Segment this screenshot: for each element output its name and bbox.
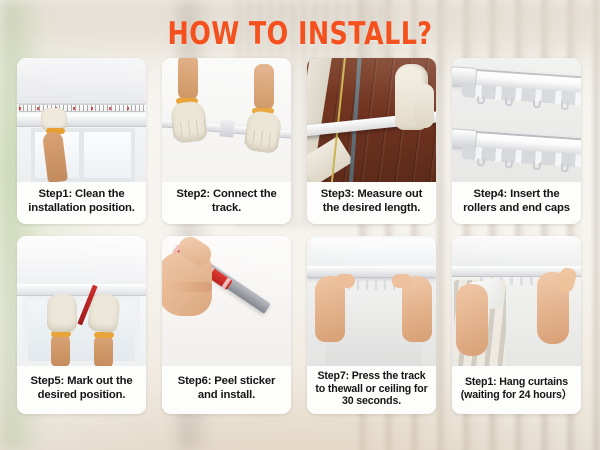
step-5-photo — [17, 236, 146, 366]
roller-hook-icon — [505, 160, 514, 169]
ceiling-surface — [311, 238, 435, 264]
window-glass — [23, 296, 140, 366]
glove-fingers — [172, 119, 207, 138]
tape-measure-icon — [19, 104, 145, 112]
thumb-right — [392, 274, 412, 288]
step-5-caption: Step5: Mark out the desired position. — [17, 366, 146, 414]
step-6-photo — [162, 236, 291, 366]
window-lintel — [17, 114, 146, 127]
roller-hook-icon — [533, 100, 542, 109]
glove-cuff-right — [94, 332, 114, 338]
step-3-caption: Step3: Measure out the desired length. — [307, 182, 436, 224]
work-glove-right-icon — [243, 110, 282, 154]
step-2-caption: Step2: Connect the track. — [162, 182, 291, 224]
roller-hook-icon — [561, 102, 570, 111]
thumb-left — [335, 274, 355, 288]
forearm-right — [254, 64, 274, 110]
page-title: HOW TO INSTALL? — [54, 17, 546, 51]
track-assembly-top — [452, 67, 581, 107]
roller-hook-icon — [533, 162, 542, 171]
step-card-6[interactable]: Step6: Peel sticker and install. — [162, 236, 291, 414]
step-3-photo — [307, 58, 436, 182]
step-8-photo — [452, 236, 581, 366]
step-7-caption: Step7: Press the track to thewall or cei… — [307, 366, 436, 414]
track-connector — [219, 119, 234, 137]
tape-red-marks — [19, 107, 145, 110]
step-card-2[interactable]: Step2: Connect the track. — [162, 58, 291, 224]
work-glove-icon — [41, 108, 67, 130]
roller-hook-icon — [505, 98, 514, 107]
fingers — [166, 282, 212, 292]
ceiling-surface — [452, 236, 581, 266]
forearm-left — [178, 58, 198, 100]
step-4-photo — [452, 58, 581, 182]
step-card-1[interactable]: Step1: Clean the installation position. — [17, 58, 146, 224]
step-1-photo — [17, 58, 146, 182]
step-card-4[interactable]: Step4: Insert the rollers and end caps — [452, 58, 581, 224]
step-8-caption: Step1: Hang curtains (waiting for 24 hou… — [452, 366, 581, 414]
work-glove-left-icon — [47, 294, 77, 332]
step-1-caption: Step1: Clean the installation position. — [17, 182, 146, 224]
ceiling-surface — [17, 236, 146, 284]
roller-hook-icon — [477, 96, 486, 105]
forearm-left — [51, 335, 70, 366]
roller-hook-icon — [561, 164, 570, 173]
window-lintel — [17, 284, 146, 296]
steps-grid: Step1: Clean the installation position. … — [17, 58, 583, 414]
step-7-photo — [307, 236, 436, 366]
work-glove-left-icon — [170, 100, 208, 143]
hand-left-icon — [456, 284, 488, 356]
step-6-caption: Step6: Peel sticker and install. — [162, 366, 291, 414]
how-to-install-infographic: HOW TO INSTALL? Step1: Clean the install… — [0, 0, 600, 450]
step-4-caption: Step4: Insert the rollers and end caps — [452, 182, 581, 224]
roller-hook-icon — [477, 158, 486, 167]
forearm-right — [94, 336, 113, 366]
step-card-8[interactable]: Step1: Hang curtains (waiting for 24 hou… — [452, 236, 581, 414]
step-2-photo — [162, 58, 291, 182]
step-card-3[interactable]: Step3: Measure out the desired length. — [307, 58, 436, 224]
step-card-5[interactable]: Step5: Mark out the desired position. — [17, 236, 146, 414]
track-assembly-bottom — [452, 129, 581, 169]
work-glove-second-icon — [414, 84, 434, 128]
step-card-7[interactable]: Step7: Press the track to thewall or cei… — [307, 236, 436, 414]
glove-fingers — [244, 129, 280, 150]
ceiling-surface — [17, 58, 146, 104]
